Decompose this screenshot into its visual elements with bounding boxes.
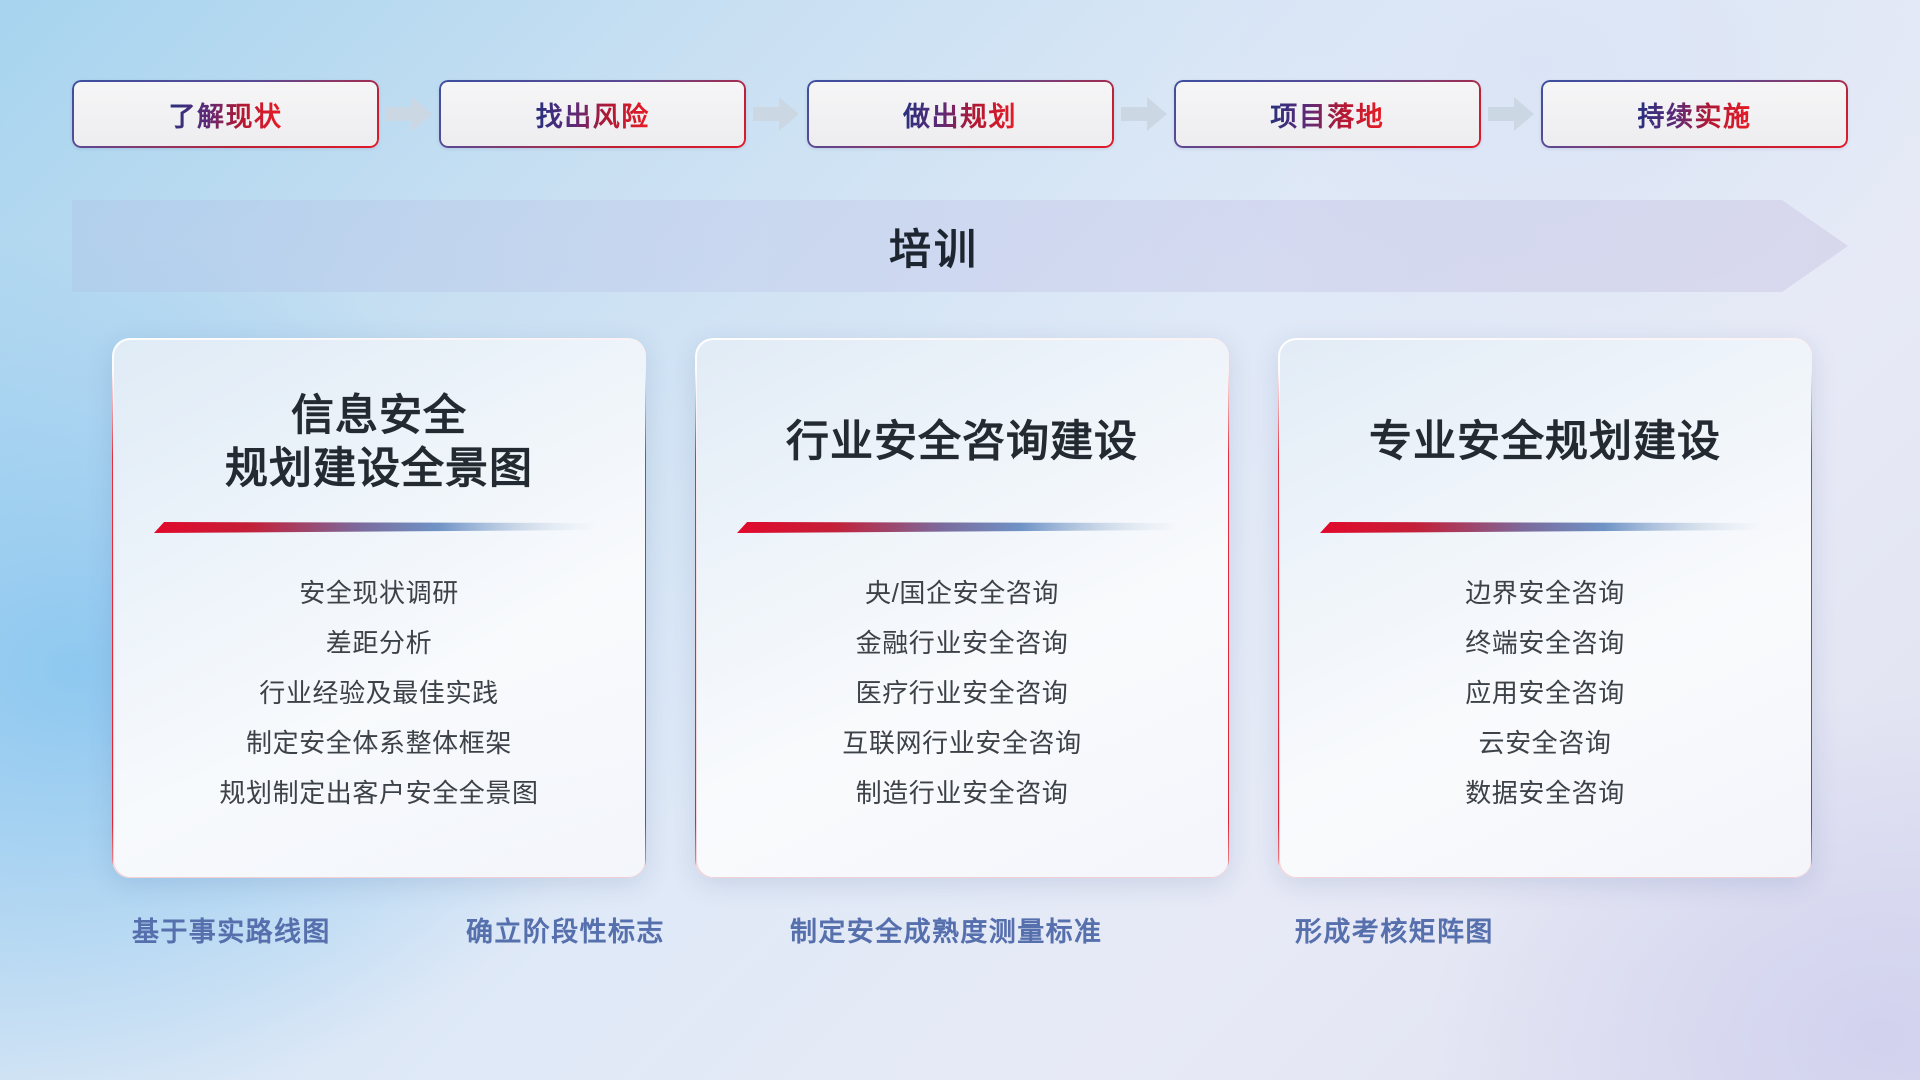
step-arrow-icon-3 [1114,97,1174,131]
card-list-item: 安全现状调研 [152,568,606,618]
step-item-3[interactable]: 做出规划 [807,80,1114,148]
card-panel-1[interactable]: 信息安全 规划建设全景图 [112,338,646,878]
step-label: 项目落地 [1270,95,1384,134]
card-panel-2[interactable]: 行业安全咨询建设 [695,338,1229,878]
step-item-2[interactable]: 找出风险 [439,80,746,148]
card-list-item: 行业经验及最佳实践 [152,668,606,718]
step-arrow-icon-2 [746,97,806,131]
card-list-item: 金融行业安全咨询 [735,618,1189,668]
card-list-item: 边界安全咨询 [1318,568,1772,618]
step-item-5[interactable]: 持续实施 [1541,80,1848,148]
step-arrow-icon-4 [1481,97,1541,131]
banner-title: 培训 [72,200,1848,292]
card-item-list: 央/国企安全咨询 金融行业安全咨询 医疗行业安全咨询 互联网行业安全咨询 制造行… [735,568,1189,818]
card-list-item: 互联网行业安全咨询 [735,718,1189,768]
slide-canvas: 了解现状 找出风险 做出规划 项目落地 [0,0,1920,1080]
card-list-item: 应用安全咨询 [1318,668,1772,718]
card-list-item: 医疗行业安全咨询 [735,668,1189,718]
card-item-list: 边界安全咨询 终端安全咨询 应用安全咨询 云安全咨询 数据安全咨询 [1318,568,1772,818]
step-item-4[interactable]: 项目落地 [1174,80,1481,148]
card-divider-rule [737,520,1181,534]
training-banner: 培训 [72,200,1848,292]
card-group: 信息安全 规划建设全景图 [112,338,1812,878]
card-right-accent-bar [645,372,646,878]
card-right-accent-bar [1811,372,1812,878]
step-label: 了解现状 [169,95,283,134]
card-list-item: 规划制定出客户安全全景图 [152,768,606,818]
step-item-1[interactable]: 了解现状 [72,80,379,148]
step-arrow-icon-1 [379,97,439,131]
card-divider-rule [1320,520,1764,534]
footnote-label-2: 确立阶段性标志 [466,910,665,949]
footnote-label-3: 制定安全成熟度测量标准 [790,910,1102,949]
footnote-row: 基于事实路线图 确立阶段性标志 制定安全成熟度测量标准 形成考核矩阵图 [0,910,1920,960]
card-title-line: 规划建设全景图 [152,443,606,496]
card-right-accent-bar [1228,372,1229,878]
card-divider-rule [154,520,598,534]
footnote-label-1: 基于事实路线图 [132,910,331,949]
step-label: 持续实施 [1638,95,1752,134]
card-list-item: 央/国企安全咨询 [735,568,1189,618]
footnote-label-4: 形成考核矩阵图 [1295,910,1494,949]
card-left-accent-bar [112,372,113,878]
card-title: 专业安全规划建设 [1318,384,1772,502]
card-list-item: 终端安全咨询 [1318,618,1772,668]
card-title-line: 专业安全规划建设 [1318,416,1772,469]
card-title: 信息安全 规划建设全景图 [152,384,606,502]
card-title: 行业安全咨询建设 [735,384,1189,502]
card-panel-3[interactable]: 专业安全规划建设 [1278,338,1812,878]
card-left-accent-bar [1278,372,1279,878]
card-list-item: 云安全咨询 [1318,718,1772,768]
card-item-list: 安全现状调研 差距分析 行业经验及最佳实践 制定安全体系整体框架 规划制定出客户… [152,568,606,818]
card-title-line: 行业安全咨询建设 [735,416,1189,469]
step-label: 做出规划 [903,95,1017,134]
card-title-line: 信息安全 [152,390,606,443]
card-left-accent-bar [695,372,696,878]
card-list-item: 制造行业安全咨询 [735,768,1189,818]
card-list-item: 制定安全体系整体框架 [152,718,606,768]
step-label: 找出风险 [536,95,650,134]
card-list-item: 差距分析 [152,618,606,668]
card-list-item: 数据安全咨询 [1318,768,1772,818]
process-step-flow: 了解现状 找出风险 做出规划 项目落地 [72,78,1848,150]
